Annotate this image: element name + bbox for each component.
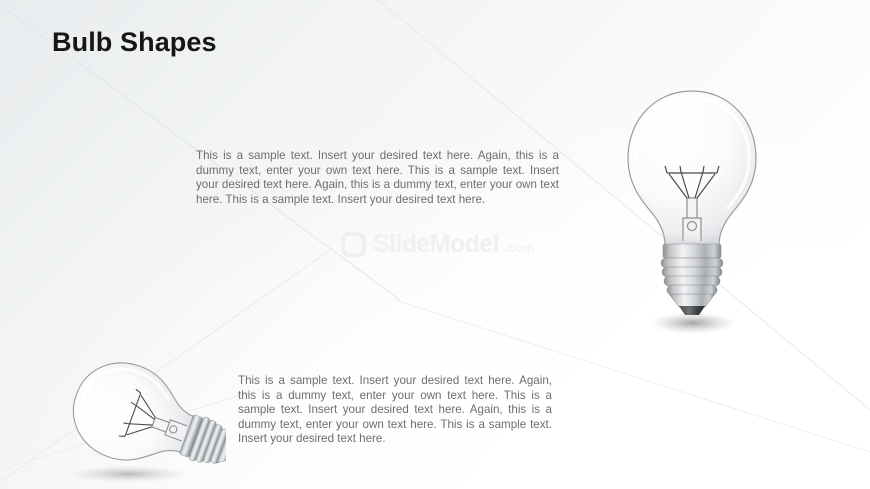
- slide-canvas: Bulb Shapes SlideModel .com This is a sa…: [0, 0, 870, 489]
- watermark-brand: SlideModel: [373, 232, 499, 257]
- paragraph-bottom: This is a sample text. Insert your desir…: [238, 374, 552, 447]
- bulb-shadow: [649, 312, 737, 334]
- rounded-square-logo-icon: [341, 232, 366, 257]
- bulb-shadow: [66, 465, 190, 483]
- bulb-screw-threads: [661, 258, 723, 295]
- light-bulb-icon-large[interactable]: [619, 86, 765, 348]
- page-title: Bulb Shapes: [52, 27, 217, 58]
- light-bulb-icon-small[interactable]: [36, 352, 226, 489]
- bulb-base-taper: [669, 294, 715, 307]
- bulb-base-collar: [663, 244, 721, 258]
- watermark-tld: .com: [504, 240, 534, 257]
- paragraph-top: This is a sample text. Insert your desir…: [196, 149, 559, 207]
- slidemodel-watermark: SlideModel .com: [341, 232, 534, 257]
